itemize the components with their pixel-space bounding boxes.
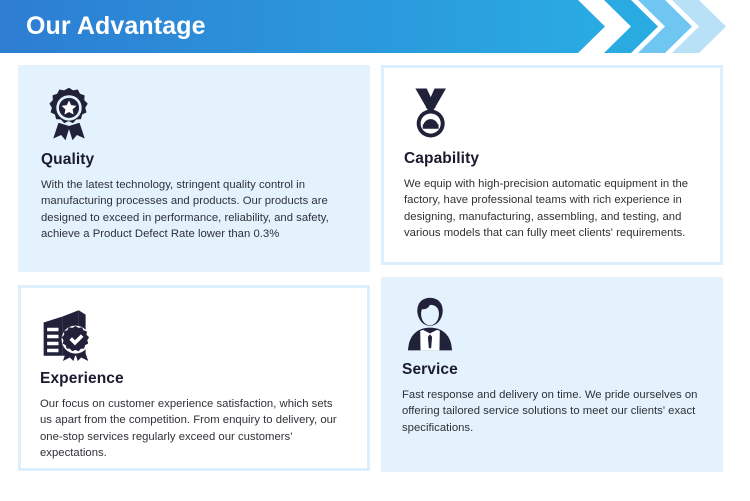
award-badge-icon — [41, 86, 347, 142]
medal-icon — [404, 85, 700, 141]
card-body: Experience Our focus on customer experie… — [21, 288, 367, 462]
advantage-card-quality[interactable]: Quality With the latest technology, stri… — [18, 65, 370, 272]
card-body: Quality With the latest technology, stri… — [19, 66, 369, 243]
advantage-card-capability[interactable]: Capability We equip with high-precision … — [381, 65, 723, 265]
header-chevrons — [598, 0, 750, 53]
card-title: Capability — [404, 149, 700, 168]
advantage-cards-grid: Quality With the latest technology, stri… — [0, 53, 750, 501]
card-description: Fast response and delivery on time. We p… — [402, 387, 702, 436]
businessperson-icon — [402, 296, 702, 352]
card-title: Experience — [40, 369, 348, 388]
certified-building-icon — [40, 305, 348, 361]
card-description: With the latest technology, stringent qu… — [41, 177, 341, 243]
card-description: Our focus on customer experience satisfa… — [40, 396, 342, 462]
card-title: Quality — [41, 150, 347, 169]
card-description: We equip with high-precision automatic e… — [404, 176, 709, 242]
card-body: Service Fast response and delivery on ti… — [382, 278, 722, 436]
page-header: Our Advantage — [0, 0, 750, 53]
advantage-card-service[interactable]: Service Fast response and delivery on ti… — [381, 277, 723, 472]
card-body: Capability We equip with high-precision … — [384, 68, 720, 242]
card-title: Service — [402, 360, 702, 379]
page-title: Our Advantage — [26, 11, 206, 42]
chevron-arrows-icon — [598, 0, 750, 53]
advantage-card-experience[interactable]: Experience Our focus on customer experie… — [18, 285, 370, 471]
